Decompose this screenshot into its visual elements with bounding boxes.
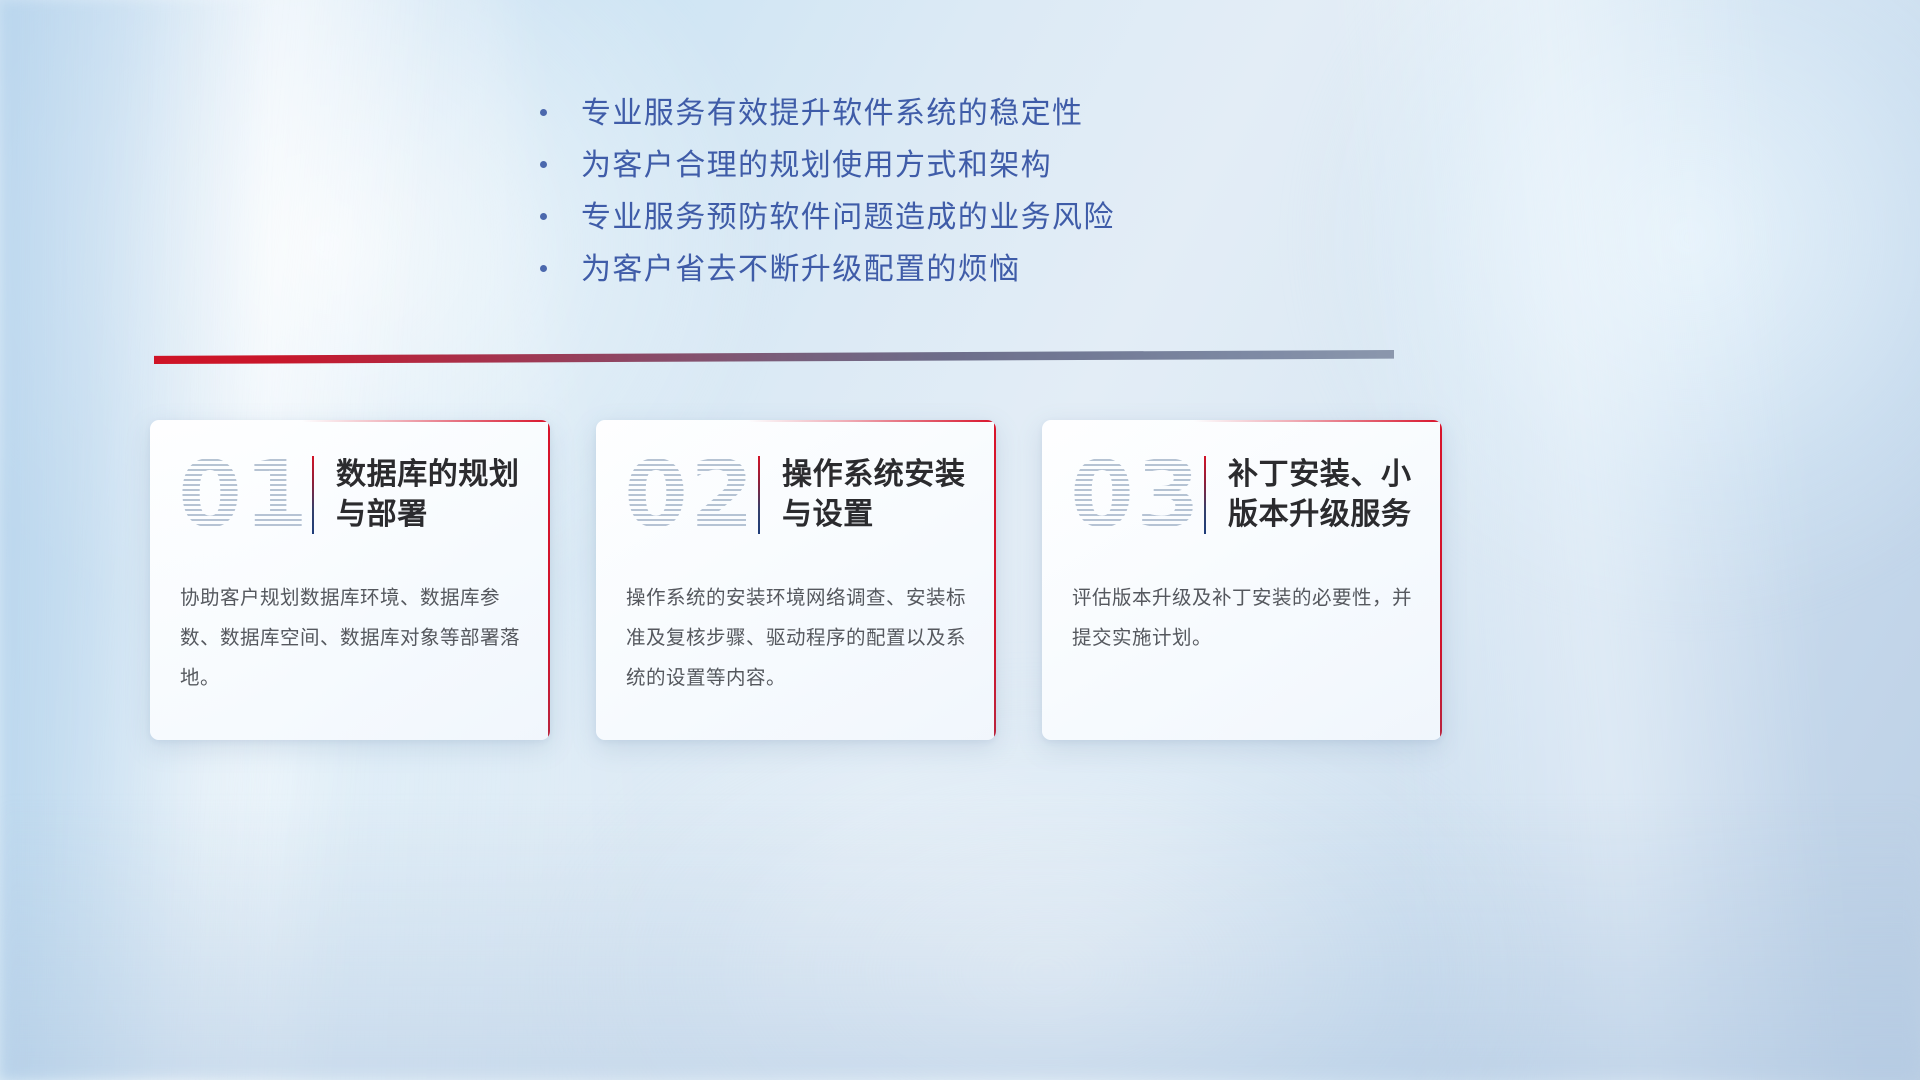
card-separator-bar: [758, 456, 760, 534]
card-header: 03 补丁安装、小版本升级服务: [1042, 420, 1442, 570]
bullet-list: 专业服务有效提升软件系统的稳定性 为客户合理的规划使用方式和架构 专业服务预防软…: [540, 88, 1440, 296]
bullet-label: 为客户合理的规划使用方式和架构: [581, 140, 1052, 192]
card-number-watermark: 01: [178, 449, 308, 541]
background-tint-bottom: [0, 799, 1920, 1080]
service-card-list: 01 数据库的规划与部署 协助客户规划数据库环境、数据库参数、数据库空间、数据库…: [150, 420, 1442, 740]
gradient-divider: [154, 350, 1394, 364]
service-card[interactable]: 03 补丁安装、小版本升级服务 评估版本升级及补丁安装的必要性，并提交实施计划。: [1042, 420, 1442, 740]
bullet-dot-icon: [540, 109, 547, 116]
card-separator-bar: [1204, 456, 1206, 534]
divider-shape: [154, 350, 1394, 364]
card-number-watermark: 02: [624, 449, 754, 541]
list-item: 为客户省去不断升级配置的烦恼: [540, 244, 1440, 296]
bullet-label: 专业服务有效提升软件系统的稳定性: [581, 88, 1083, 140]
card-description: 协助客户规划数据库环境、数据库参数、数据库空间、数据库对象等部署落地。: [150, 570, 550, 698]
card-description: 评估版本升级及补丁安装的必要性，并提交实施计划。: [1042, 570, 1442, 658]
card-header: 01 数据库的规划与部署: [150, 420, 550, 570]
bullet-label: 专业服务预防软件问题造成的业务风险: [581, 192, 1115, 244]
card-title: 数据库的规划与部署: [336, 455, 544, 534]
bullet-dot-icon: [540, 265, 547, 272]
card-title: 操作系统安装与设置: [782, 455, 990, 534]
service-card[interactable]: 02 操作系统安装与设置 操作系统的安装环境网络调查、安装标准及复核步骤、驱动程…: [596, 420, 996, 740]
list-item: 专业服务预防软件问题造成的业务风险: [540, 192, 1440, 244]
bullet-label: 为客户省去不断升级配置的烦恼: [581, 244, 1021, 296]
card-separator-bar: [312, 456, 314, 534]
list-item: 为客户合理的规划使用方式和架构: [540, 140, 1440, 192]
card-header: 02 操作系统安装与设置: [596, 420, 996, 570]
bullet-dot-icon: [540, 213, 547, 220]
card-description: 操作系统的安装环境网络调查、安装标准及复核步骤、驱动程序的配置以及系统的设置等内…: [596, 570, 996, 698]
bullet-dot-icon: [540, 161, 547, 168]
card-title: 补丁安装、小版本升级服务: [1228, 455, 1436, 534]
card-number-watermark: 03: [1070, 449, 1200, 541]
list-item: 专业服务有效提升软件系统的稳定性: [540, 88, 1440, 140]
service-card[interactable]: 01 数据库的规划与部署 协助客户规划数据库环境、数据库参数、数据库空间、数据库…: [150, 420, 550, 740]
